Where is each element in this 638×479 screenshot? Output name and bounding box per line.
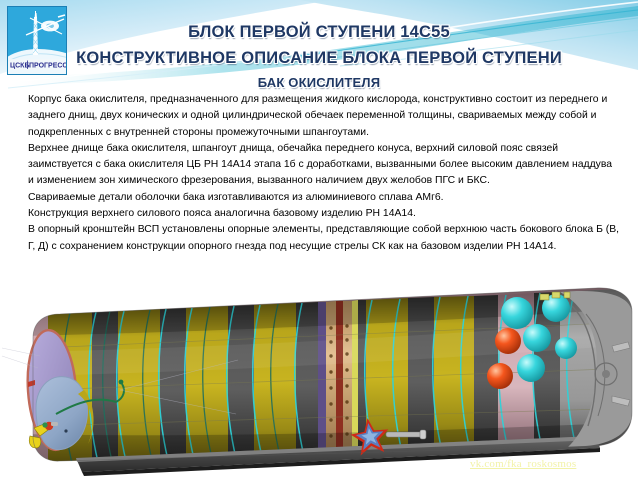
tank-cutaway-svg [0, 286, 638, 479]
pressurant-sphere [517, 354, 545, 382]
paragraph-5: В опорный кронштейн ВСП установлены опор… [28, 222, 620, 255]
pressurant-sphere [501, 297, 533, 329]
page-title-main: БЛОК ПЕРВОЙ СТУПЕНИ 14С55 [0, 23, 638, 42]
pressurant-sphere [523, 324, 551, 352]
slide-root: БЛОК ПЕРВОЙ СТУПЕНИ 14С55 КОНСТРУКТИВНОЕ… [0, 0, 638, 479]
propellant-sphere [495, 328, 521, 354]
page-title-section: БАК ОКИСЛИТЕЛЯ [0, 75, 638, 90]
paragraph-1: Корпус бака окислителя, предназначенного… [28, 92, 620, 141]
header-banner: БЛОК ПЕРВОЙ СТУПЕНИ 14С55 КОНСТРУКТИВНОЕ… [0, 0, 638, 92]
propellant-sphere [487, 363, 513, 389]
tsskb-progress-logo: ЦСКБ ПРОГРЕСС [7, 6, 67, 75]
watermark-link[interactable]: vk.com/fka_roskosmos [470, 458, 576, 470]
cad-model-illustration [0, 286, 638, 479]
paragraph-2: Верхнее днище бака окислителя, шпангоут … [28, 141, 620, 190]
paragraph-4: Конструкция верхнего силового пояса анал… [28, 206, 620, 222]
logo-text-left: ЦСКБ [10, 63, 29, 70]
header-titles: БЛОК ПЕРВОЙ СТУПЕНИ 14С55 КОНСТРУКТИВНОЕ… [0, 0, 638, 92]
page-title-sub: КОНСТРУКТИВНОЕ ОПИСАНИЕ БЛОКА ПЕРВОЙ СТУ… [0, 49, 638, 68]
pressurant-sphere [555, 337, 577, 359]
logo-text-right: ПРОГРЕСС [29, 63, 66, 70]
logo-artwork-icon: ЦСКБ ПРОГРЕСС [8, 7, 66, 74]
description-text-block: Корпус бака окислителя, предназначенного… [28, 92, 620, 255]
paragraph-3: Свариваемые детали оболочки бака изготав… [28, 190, 620, 206]
